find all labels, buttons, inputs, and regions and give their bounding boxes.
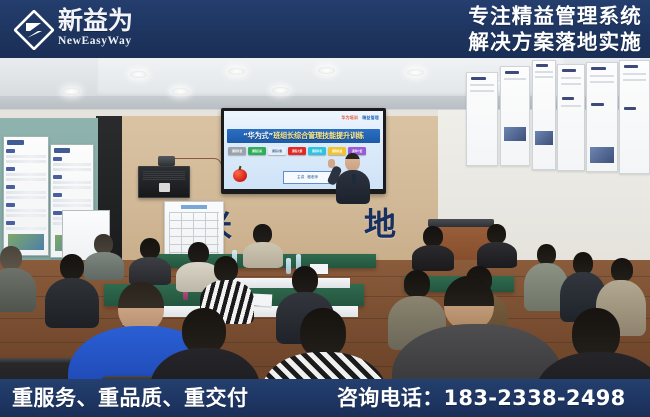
downlight	[272, 87, 289, 94]
board-header-tag	[7, 140, 25, 145]
slide-title-bar: “华为式”班组长综合管理技能提升训练	[227, 129, 380, 143]
slide-chip[interactable]: 课程对象	[268, 147, 286, 155]
wall-poster	[466, 72, 498, 166]
page-footer: 重服务、重品质、重交付 咨询电话：183-2338-2498	[0, 379, 650, 417]
slide-presenter-box: 主讲 程老师	[283, 171, 332, 184]
chart-title-bar	[181, 205, 207, 209]
water-bottle	[286, 258, 291, 274]
downlight	[130, 71, 147, 78]
page-header: 新益为 NewEasyWay 专注精益管理系统 解决方案落地实施	[0, 0, 650, 58]
board-section-tag	[6, 149, 16, 153]
poster-photo	[535, 131, 553, 145]
wall-poster	[532, 60, 556, 170]
board-section-tag	[6, 167, 16, 171]
slide-top-labels: 华为培训 精益管理	[341, 115, 379, 121]
logo-english-name: NewEasyWay	[58, 35, 154, 48]
poster-photo	[504, 127, 526, 141]
slide-top-label-1: 华为培训	[341, 115, 358, 121]
slide-chip-row: 课程背景 课程目标 课程对象 课程大纲 课程特色 课程收益 讲师介绍	[228, 147, 366, 155]
presenter-label: 主讲	[297, 175, 304, 180]
slogan-line-2: 解决方案落地实施	[468, 29, 642, 55]
slogan-line-1: 专注精益管理系统	[468, 3, 642, 29]
slide-title-quote: “华为式”	[243, 131, 273, 140]
brand-logo[interactable]: 新益为 NewEasyWay	[14, 6, 146, 54]
footer-phone-label: 咨询电话：	[337, 386, 444, 410]
poster-root: 新益为 NewEasyWay 专注精益管理系统 解决方案落地实施	[0, 0, 650, 417]
downlight	[63, 88, 80, 95]
info-board	[3, 136, 49, 256]
board-section-tag	[53, 175, 62, 179]
downlight	[228, 68, 245, 75]
downlight	[318, 67, 335, 74]
board-section-tag	[53, 193, 62, 197]
board-section-tag	[53, 211, 62, 215]
slide-chip[interactable]: 课程背景	[228, 147, 246, 155]
slide-title-rest: 班组长综合管理技能提升训练	[273, 131, 364, 140]
handout-paper	[252, 293, 273, 306]
presenter-name: 程老师	[307, 175, 318, 180]
downlight	[172, 88, 189, 95]
slide-chip[interactable]: 课程目标	[248, 147, 266, 155]
board-section-tag	[6, 203, 16, 207]
slide-top-label-2: 精益管理	[362, 115, 379, 121]
footer-contact: 咨询电话：183-2338-2498	[337, 384, 626, 412]
slide-chip[interactable]: 课程特色	[308, 147, 326, 155]
diamond-z-logo-icon	[14, 10, 54, 50]
downlight	[407, 69, 424, 76]
training-photo: 米 地	[0, 58, 650, 379]
header-slogan: 专注精益管理系统 解决方案落地实施	[468, 3, 642, 55]
wall-poster	[557, 64, 585, 171]
slide-chip[interactable]: 课程大纲	[288, 147, 306, 155]
board-section-tag	[6, 185, 16, 189]
logo-chinese-name: 新益为	[58, 7, 154, 35]
footer-phone-number[interactable]: 183-2338-2498	[444, 386, 626, 410]
board-header-tag	[54, 148, 71, 153]
wall-character-2: 地	[364, 208, 396, 240]
footer-tagline: 重服务、重品质、重交付	[12, 384, 249, 412]
wall-poster	[619, 60, 650, 174]
ceiling-projector-icon	[158, 156, 175, 166]
wall-speaker-icon	[138, 166, 190, 198]
board-section-tag	[53, 157, 62, 161]
wall-poster	[500, 66, 530, 166]
slide-chip[interactable]: 课程收益	[328, 147, 346, 155]
board-section-tag	[6, 221, 16, 225]
poster-photo	[590, 147, 614, 163]
red-apple-icon	[233, 169, 247, 182]
wall-poster	[586, 62, 618, 172]
slide-title-text: “华为式”班组长综合管理技能提升训练	[243, 131, 364, 141]
